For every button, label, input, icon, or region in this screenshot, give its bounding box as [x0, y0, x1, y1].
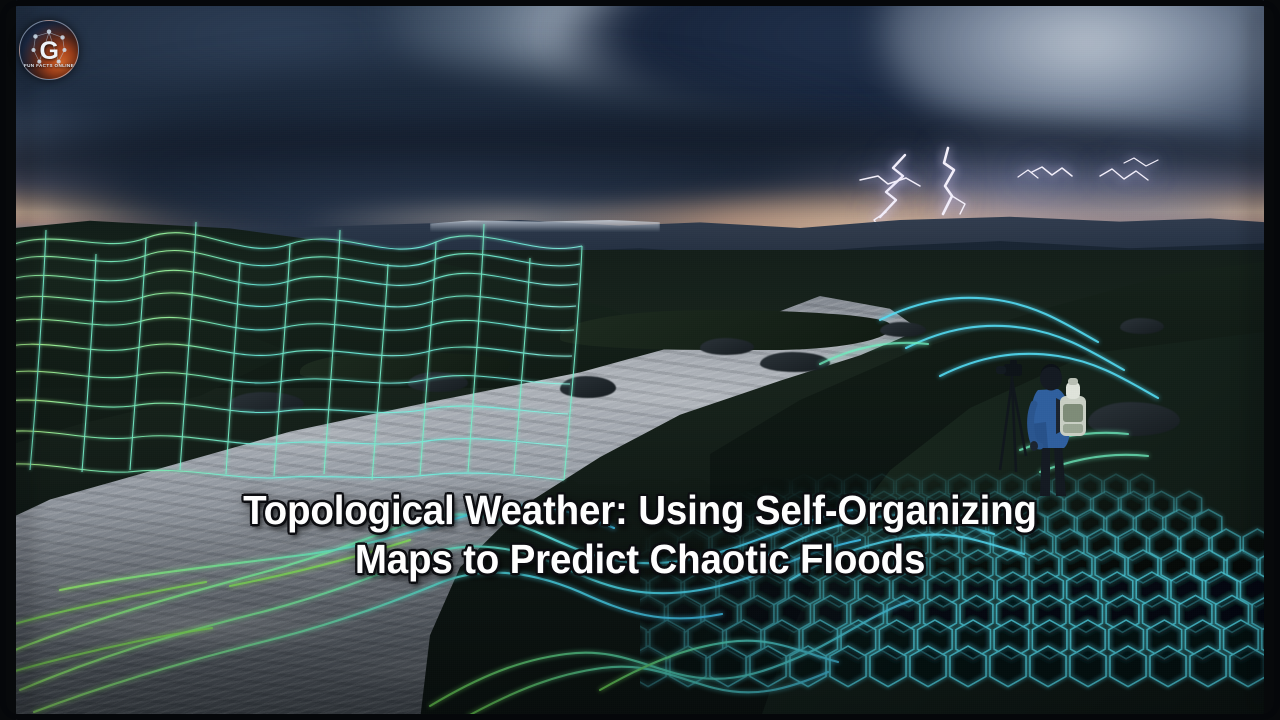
- logo-letter: G: [20, 37, 78, 66]
- page-title: Topological Weather: Using Self-Organizi…: [38, 486, 1241, 584]
- scene-photo: [0, 0, 1280, 720]
- logo-tagline: FUN FACTS ONLINE: [20, 63, 78, 68]
- tripod: [1000, 376, 1026, 472]
- site-logo-badge[interactable]: G FUN FACTS ONLINE: [19, 20, 79, 80]
- title-line-2: Maps to Predict Chaotic Floods: [38, 535, 1241, 584]
- hero-banner: G FUN FACTS ONLINE Topological Weather: …: [0, 0, 1280, 720]
- backpack: [1056, 378, 1086, 436]
- title-line-1: Topological Weather: Using Self-Organizi…: [243, 487, 1037, 533]
- camera: [996, 360, 1022, 376]
- photographer-with-tripod: [990, 352, 1110, 502]
